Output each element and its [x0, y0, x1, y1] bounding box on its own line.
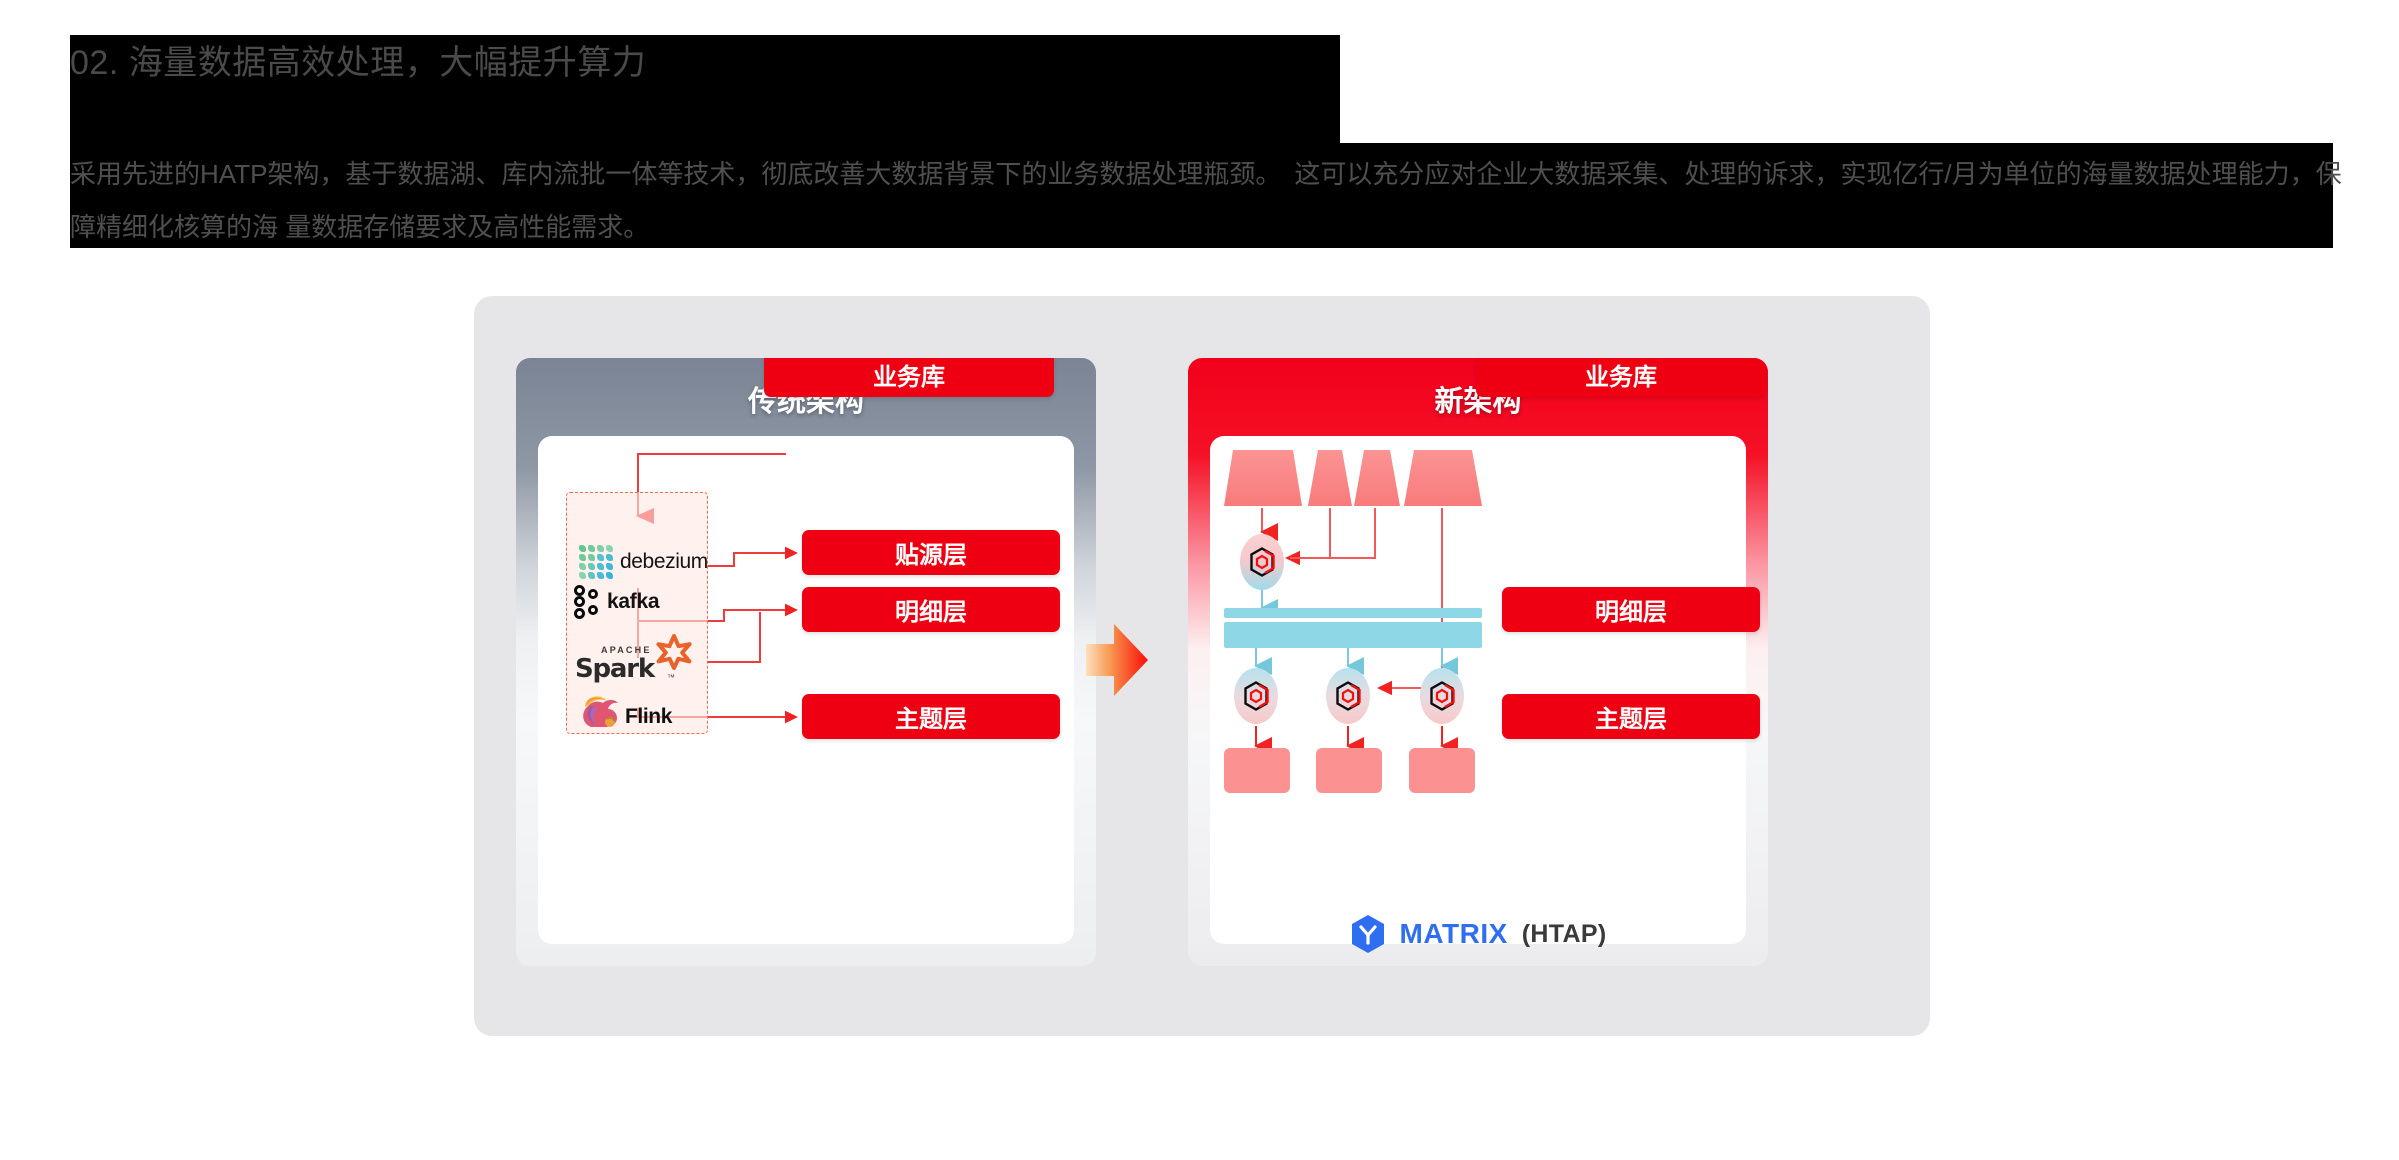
new-layer-chip-business-db[interactable]: 业务库: [1476, 358, 1766, 397]
matrix-hexagon-node-icon: [1429, 681, 1455, 711]
tool-debezium-label: debezium: [620, 550, 708, 574]
matrix-node-lower-2[interactable]: [1326, 668, 1370, 724]
debezium-grid-icon: [579, 545, 613, 579]
matrix-htap-label: (HTAP): [1522, 920, 1607, 949]
page-title: 02. 海量数据高效处理，大幅提升算力: [70, 38, 646, 88]
legacy-tool-group: debezium kafka APACHE: [566, 492, 708, 734]
flink-squirrel-icon: [577, 689, 623, 729]
paragraph-highlight-band-upper: [70, 90, 1340, 145]
topic-output-box-1: [1224, 748, 1290, 793]
matrix-hexagon-node-icon: [1249, 547, 1275, 577]
new-connectors: [1210, 436, 1746, 944]
matrix-node-lower-3[interactable]: [1420, 668, 1464, 724]
matrix-brand-label: MATRIX: [1400, 918, 1508, 950]
matrix-node-upper[interactable]: [1240, 534, 1284, 590]
storage-bar-thin: [1224, 608, 1482, 618]
tool-flink[interactable]: Flink: [577, 689, 672, 729]
new-panel-body: 明细层 主题层: [1210, 436, 1746, 944]
matrix-hexagon-icon: [1350, 914, 1386, 954]
legacy-panel-body: 贴源层 明细层 主题层: [538, 436, 1074, 944]
tool-kafka-label: kafka: [607, 590, 659, 614]
legacy-layer-chip-business-db[interactable]: 业务库: [764, 358, 1054, 397]
storage-bar-main: [1224, 622, 1482, 648]
spark-tm-mark: ™: [667, 673, 675, 682]
transition-arrow-icon: [1084, 622, 1150, 698]
topic-output-box-3: [1409, 748, 1475, 793]
spark-star-icon: [655, 635, 693, 669]
new-architecture-panel: 新架构 业务库 明细层 主题层: [1188, 358, 1768, 966]
legacy-architecture-panel: 传统架构 业务库 贴源层 明细层 主题层: [516, 358, 1096, 966]
tool-flink-label: Flink: [625, 705, 672, 729]
tool-spark-label: Spark: [575, 654, 654, 684]
page-paragraph: 采用先进的HATP架构，基于数据湖、库内流批一体等技术，彻底改善大数据背景下的业…: [70, 148, 2355, 254]
topic-output-box-2: [1316, 748, 1382, 793]
matrix-footer: MATRIX (HTAP): [1188, 914, 1768, 954]
matrix-node-lower-1[interactable]: [1234, 668, 1278, 724]
matrix-hexagon-node-icon: [1335, 681, 1361, 711]
kafka-nodes-icon: [573, 585, 601, 619]
matrix-hexagon-node-icon: [1243, 681, 1269, 711]
diagram-container: 传统架构 业务库 贴源层 明细层 主题层: [474, 296, 1930, 1036]
tool-debezium[interactable]: debezium: [579, 545, 708, 579]
tool-spark[interactable]: APACHE Spark ™: [575, 643, 699, 685]
tool-kafka[interactable]: kafka: [573, 585, 659, 619]
